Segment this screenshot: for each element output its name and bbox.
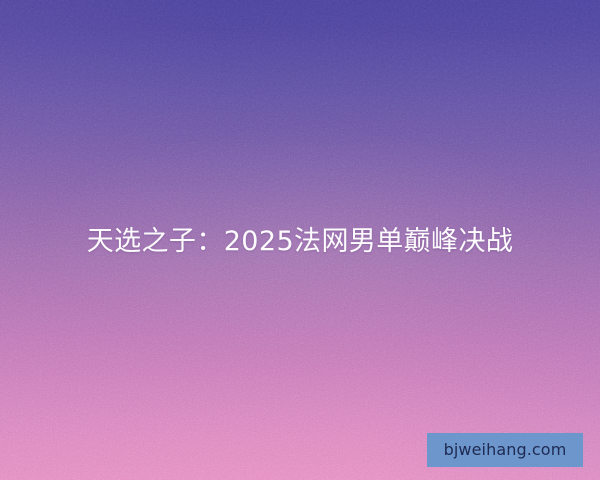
article-banner-image: 天选之子：2025法网男单巅峰决战 bjweihang.com [0, 0, 600, 480]
banner-headline: 天选之子：2025法网男单巅峰决战 [0, 226, 600, 258]
site-watermark-badge: bjweihang.com [427, 433, 583, 467]
site-watermark-label: bjweihang.com [444, 441, 567, 459]
